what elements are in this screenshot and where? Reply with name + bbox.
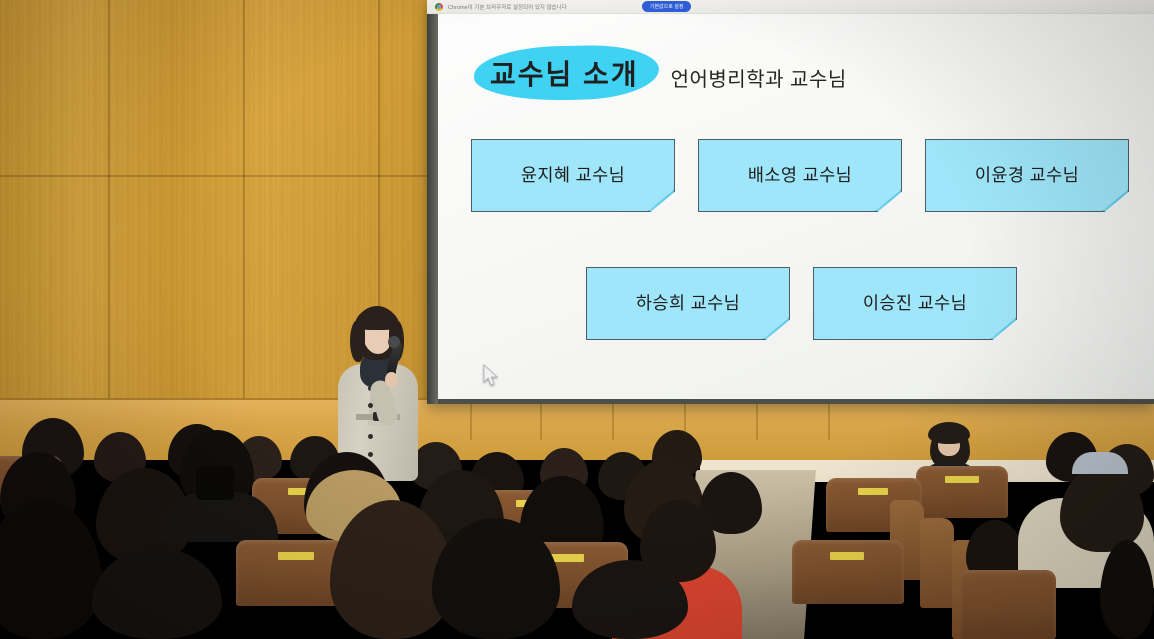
professor-card[interactable]: 이승진 교수님 bbox=[813, 267, 1017, 340]
presenter-hand bbox=[385, 372, 398, 387]
seat-number-tag bbox=[945, 476, 979, 483]
projected-slide: 교수님 소개 언어병리학과 교수님 윤지혜 교수님 배소영 교수님 이윤경 교수… bbox=[438, 10, 1154, 399]
slide-content: 교수님 소개 언어병리학과 교수님 윤지혜 교수님 배소영 교수님 이윤경 교수… bbox=[438, 24, 1154, 399]
panel-seam bbox=[828, 400, 830, 440]
panel-seam bbox=[540, 400, 542, 440]
professor-card[interactable]: 하승희 교수님 bbox=[586, 267, 790, 340]
page-fold-corner bbox=[763, 318, 789, 339]
wall-seam bbox=[108, 0, 110, 418]
seat-number-tag bbox=[858, 488, 888, 495]
screenshot-root: 교수님 소개 언어병리학과 교수님 윤지혜 교수님 배소영 교수님 이윤경 교수… bbox=[0, 0, 1154, 639]
seat-number-tag bbox=[830, 552, 864, 560]
professor-name: 이윤경 교수님 bbox=[975, 162, 1079, 187]
panel-seam bbox=[756, 400, 758, 440]
professor-name: 하승희 교수님 bbox=[636, 290, 740, 315]
audience-head bbox=[92, 548, 222, 639]
professor-name: 이승진 교수님 bbox=[863, 290, 967, 315]
professor-row-1: 윤지혜 교수님 배소영 교수님 이윤경 교수님 bbox=[471, 139, 1129, 212]
wall-seam bbox=[0, 175, 432, 177]
seat-armrest bbox=[920, 518, 954, 608]
coat-button bbox=[368, 434, 373, 439]
microphone-head bbox=[388, 336, 400, 348]
professor-name: 윤지혜 교수님 bbox=[521, 162, 625, 187]
page-fold-corner bbox=[648, 190, 674, 211]
set-as-default-button[interactable]: 기본값으로 설정 bbox=[642, 1, 692, 12]
page-fold-corner bbox=[990, 318, 1016, 339]
panel-seam bbox=[612, 400, 614, 440]
infobar-message: Chrome이 기본 브라우저로 설정되어 있지 않습니다 bbox=[448, 3, 567, 11]
auditorium-seat bbox=[792, 540, 904, 604]
seat-number-tag bbox=[278, 552, 314, 560]
hair-clip-icon bbox=[196, 466, 234, 500]
mouse-pointer-icon bbox=[483, 364, 500, 387]
coat-button bbox=[368, 403, 373, 408]
slide-subtitle: 언어병리학과 교수님 bbox=[671, 63, 847, 98]
auditorium-seat bbox=[916, 466, 1008, 518]
wall-seam bbox=[243, 0, 245, 418]
page-fold-corner bbox=[875, 190, 901, 211]
audience-hair bbox=[928, 422, 970, 444]
headband bbox=[1072, 452, 1128, 474]
slide-heading: 교수님 소개 언어병리학과 교수님 bbox=[478, 50, 847, 98]
professor-card[interactable]: 이윤경 교수님 bbox=[925, 139, 1129, 212]
page-fold-corner bbox=[1102, 190, 1128, 211]
panel-seam bbox=[470, 400, 472, 440]
coat-button bbox=[368, 452, 373, 457]
chrome-default-browser-infobar[interactable]: Chrome이 기본 브라우저로 설정되어 있지 않습니다 기본값으로 설정 bbox=[427, 0, 1154, 14]
professor-row-2: 하승희 교수님 이승진 교수님 bbox=[586, 267, 1017, 340]
professor-card[interactable]: 배소영 교수님 bbox=[698, 139, 902, 212]
auditorium-seat bbox=[960, 570, 1056, 639]
professor-name: 배소영 교수님 bbox=[748, 162, 852, 187]
audience-head bbox=[0, 500, 102, 639]
chrome-icon bbox=[435, 3, 443, 11]
presenter-hair-side bbox=[350, 320, 365, 362]
slide-title: 교수님 소개 bbox=[490, 59, 639, 90]
professor-card[interactable]: 윤지혜 교수님 bbox=[471, 139, 675, 212]
slide-title-highlight: 교수님 소개 bbox=[478, 50, 653, 98]
